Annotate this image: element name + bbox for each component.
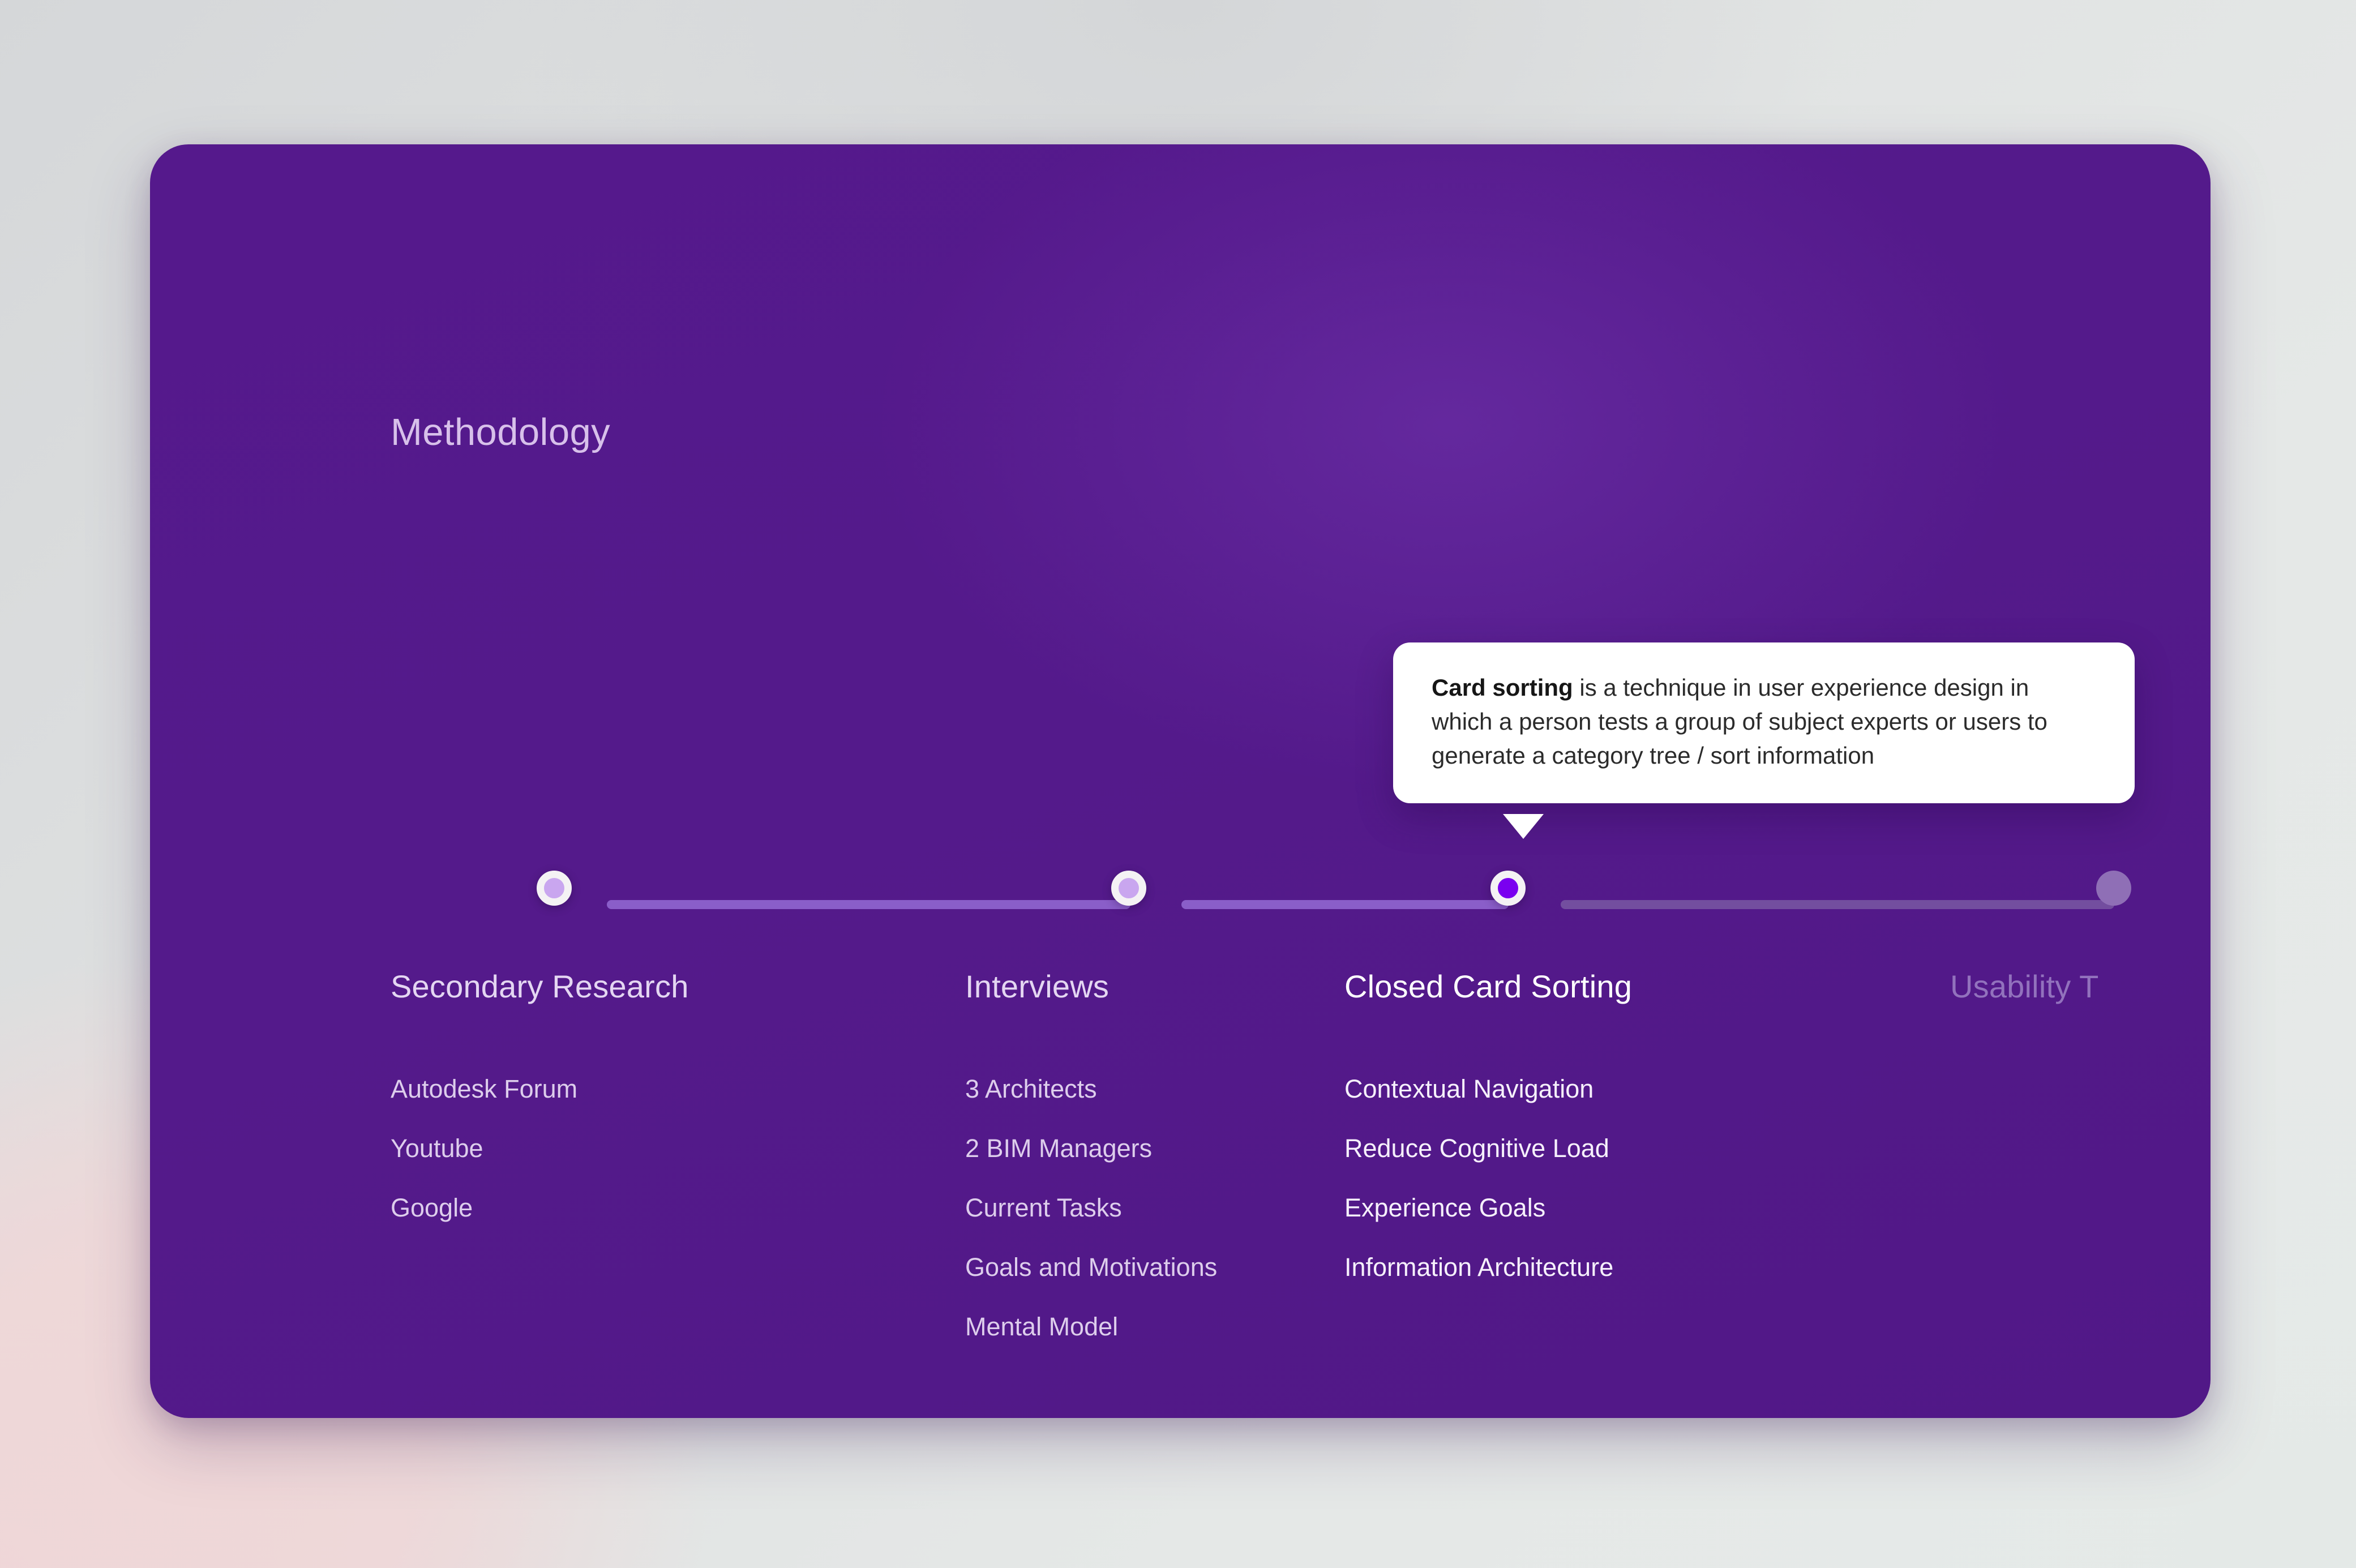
list-item: Contextual Navigation: [1344, 1059, 1632, 1119]
column-heading: Usability T: [1950, 968, 2099, 1005]
list-item: 2 BIM Managers: [965, 1119, 1217, 1178]
list-item: Google: [391, 1178, 689, 1237]
timeline-track-1: [607, 900, 1130, 909]
column-list: 3 Architects 2 BIM Managers Current Task…: [965, 1059, 1217, 1356]
timeline-column-secondary-research: Secondary Research Autodesk Forum Youtub…: [391, 968, 689, 1237]
tooltip-term: Card sorting: [1432, 674, 1573, 701]
timeline-dot-closed-card-sorting[interactable]: [1490, 871, 1526, 906]
list-item: Information Architecture: [1344, 1237, 1632, 1297]
list-item: Current Tasks: [965, 1178, 1217, 1237]
column-heading: Interviews: [965, 968, 1217, 1005]
list-item: Mental Model: [965, 1297, 1217, 1356]
column-heading: Secondary Research: [391, 968, 689, 1005]
list-item: Youtube: [391, 1119, 689, 1178]
timeline-column-closed-card-sorting: Closed Card Sorting Contextual Navigatio…: [1344, 968, 1632, 1297]
column-list: Autodesk Forum Youtube Google: [391, 1059, 689, 1237]
column-heading: Closed Card Sorting: [1344, 968, 1632, 1005]
list-item: Autodesk Forum: [391, 1059, 689, 1119]
list-item: 3 Architects: [965, 1059, 1217, 1119]
list-item: Experience Goals: [1344, 1178, 1632, 1237]
card-sorting-tooltip: Card sorting is a technique in user expe…: [1393, 642, 2135, 803]
page-title: Methodology: [391, 410, 610, 454]
tooltip-tail-icon: [1503, 814, 1544, 839]
timeline-column-usability-testing: Usability T: [1950, 968, 2099, 1005]
list-item: Goals and Motivations: [965, 1237, 1217, 1297]
list-item: Reduce Cognitive Load: [1344, 1119, 1632, 1178]
tooltip-text: Card sorting is a technique in user expe…: [1432, 671, 2096, 773]
column-list: Contextual Navigation Reduce Cognitive L…: [1344, 1059, 1632, 1297]
timeline-track-3: [1561, 900, 2114, 909]
methodology-card: Methodology Secondary Research Autodesk …: [150, 144, 2211, 1418]
timeline-dot-interviews[interactable]: [1111, 871, 1146, 906]
timeline-dot-usability-testing[interactable]: [2096, 871, 2131, 906]
timeline-dot-secondary-research[interactable]: [537, 871, 572, 906]
timeline-track-2: [1181, 900, 1509, 909]
timeline-column-interviews: Interviews 3 Architects 2 BIM Managers C…: [965, 968, 1217, 1356]
